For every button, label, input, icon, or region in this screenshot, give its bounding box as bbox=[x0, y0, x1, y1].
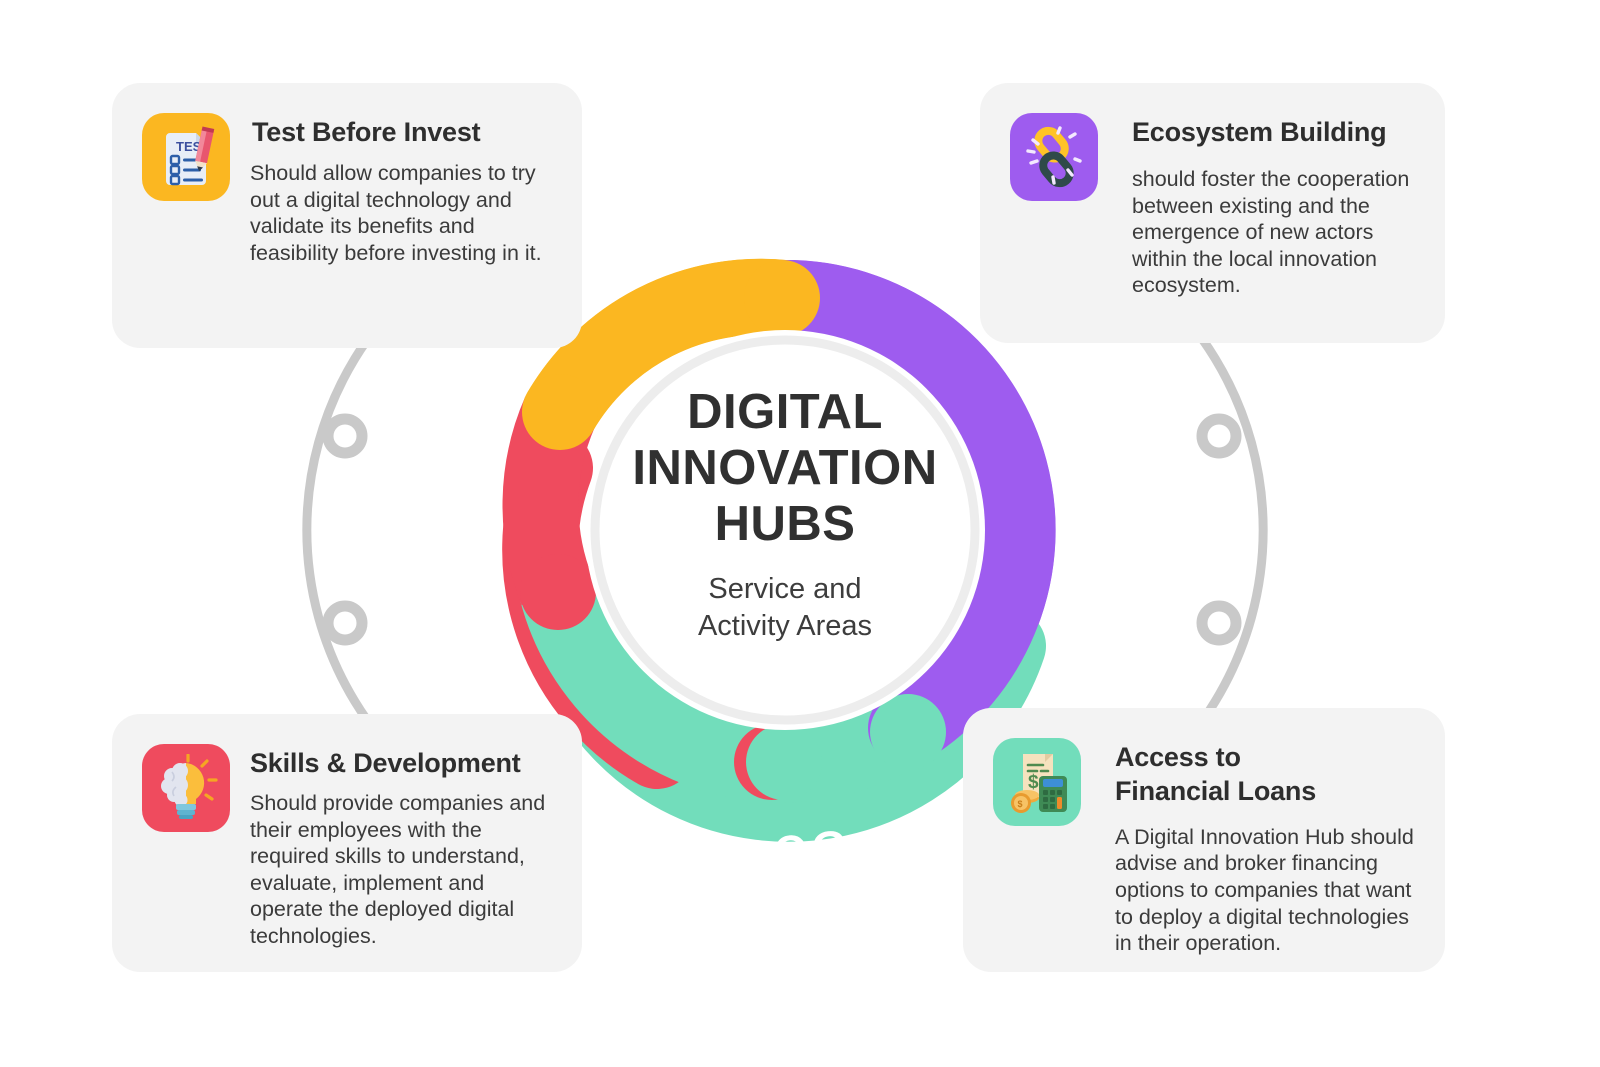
card-description: A Digital Innovation Hub should advise a… bbox=[1115, 824, 1415, 957]
ring-node-left-bottom bbox=[328, 606, 362, 640]
infographic-canvas: 01 02 03 04 DIGITAL INNOVATION HUBS Serv… bbox=[0, 0, 1600, 1067]
svg-text:$: $ bbox=[1028, 772, 1039, 793]
card-title: Ecosystem Building bbox=[1132, 117, 1415, 149]
test-checklist-pencil-icon: TEST bbox=[142, 113, 230, 201]
card-description: Should allow companies to try out a digi… bbox=[250, 160, 552, 267]
card-title: Test Before Invest bbox=[252, 117, 552, 149]
card-test-before-invest[interactable]: TEST Test Before Invest Should allow com… bbox=[112, 83, 582, 348]
invoice-calculator-coins-icon: $ $ bbox=[993, 738, 1081, 826]
card-ecosystem-building[interactable]: Ecosystem Building should foster the coo… bbox=[980, 83, 1445, 343]
card-skills-and-development[interactable]: Skills & Development Should provide comp… bbox=[112, 714, 582, 972]
ring-node-right-top bbox=[1202, 419, 1236, 453]
svg-text:$: $ bbox=[1018, 799, 1023, 809]
ring-node-left-top bbox=[328, 419, 362, 453]
card-title: Skills & Development bbox=[250, 748, 552, 780]
card-access-to-financial-loans[interactable]: $ $ bbox=[963, 708, 1445, 972]
card-description: Should provide companies and their emplo… bbox=[250, 790, 552, 950]
card-description: should foster the cooperation between ex… bbox=[1132, 166, 1415, 299]
card-title-line-2: Financial Loans bbox=[1115, 776, 1415, 808]
donut-inner-circle bbox=[595, 340, 975, 720]
brain-lightbulb-icon bbox=[142, 744, 230, 832]
card-title-line-1: Access to bbox=[1115, 742, 1415, 774]
ring-node-right-bottom bbox=[1202, 606, 1236, 640]
chain-link-icon bbox=[1010, 113, 1098, 201]
